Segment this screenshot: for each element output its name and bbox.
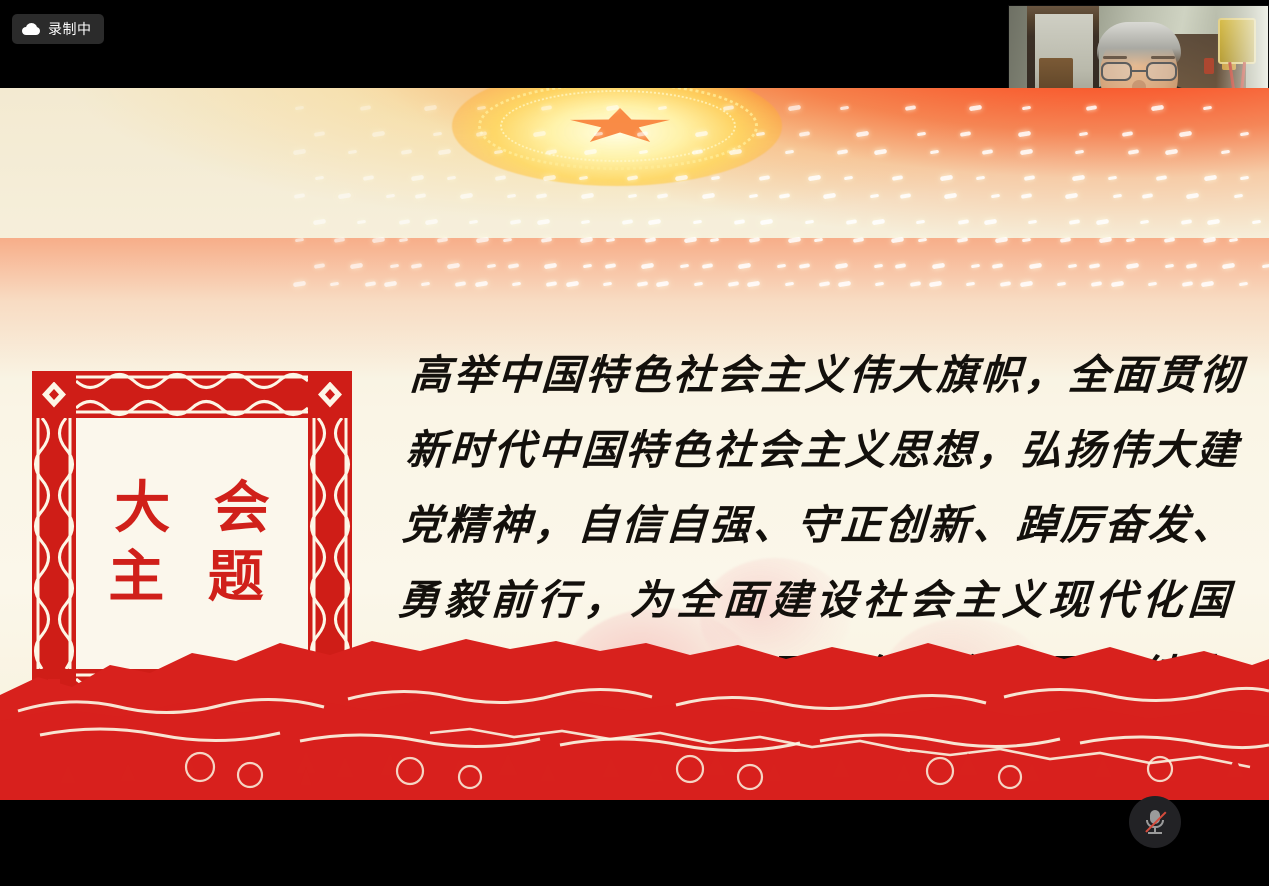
theme-frame-corner — [308, 371, 352, 418]
shared-slide[interactable]: 大 会 主 题 高举中国特色社会主义伟大旗帜，全面贯彻新时代中国特色社会主义思想… — [0, 88, 1269, 800]
video-person-eyebrow — [1151, 56, 1175, 59]
mute-toggle-button[interactable] — [1129, 796, 1181, 848]
slide-ceiling-lights — [0, 88, 1269, 318]
video-person-hair — [1097, 22, 1181, 66]
theme-frame-title: 大 会 主 题 — [102, 475, 282, 612]
app-root: 录制中 — [0, 0, 1269, 886]
glasses-lens-right — [1146, 62, 1177, 81]
recording-badge: 录制中 — [12, 14, 104, 44]
cloud-icon — [22, 23, 40, 35]
glasses-bridge — [1132, 70, 1146, 72]
recording-label: 录制中 — [48, 22, 92, 36]
glasses-lens-left — [1101, 62, 1132, 81]
microphone-muted-icon — [1144, 809, 1166, 835]
slide-papercut-great-wall — [0, 625, 1269, 800]
theme-frame-edge-top — [76, 371, 308, 418]
theme-frame-corner — [32, 371, 76, 418]
video-person-eyebrow — [1103, 56, 1127, 59]
video-person-glasses — [1101, 62, 1177, 82]
video-shelf-item — [1204, 58, 1214, 74]
bottom-toolbar — [0, 800, 1269, 886]
